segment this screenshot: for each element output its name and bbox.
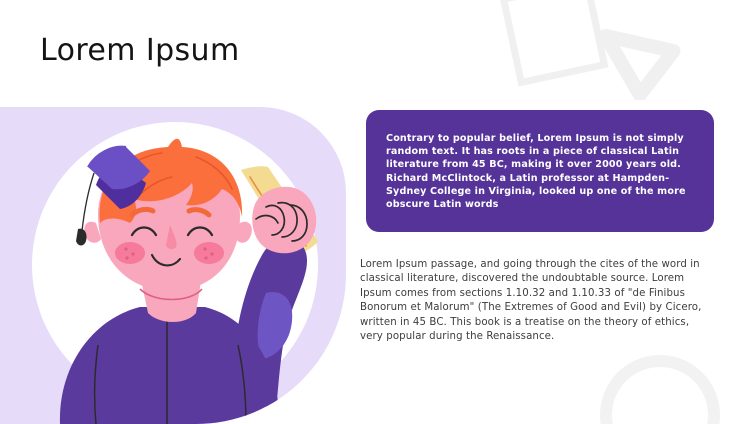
fist-hand [252,187,316,254]
illustration-panel [0,107,346,424]
slide-canvas: Lorem Ipsum [0,0,753,424]
callout-text: Contrary to popular belief, Lorem Ipsum … [386,132,694,211]
blush-left [115,242,145,264]
callout-card: Contrary to popular belief, Lorem Ipsum … [366,110,714,232]
circle-outline-icon [600,355,720,424]
page-title: Lorem Ipsum [40,33,240,68]
tilted-square-outline-icon [499,0,608,87]
body-paragraph: Lorem Ipsum passage, and going through t… [360,258,712,344]
triangle-outline-icon [600,14,690,100]
blush-right [194,242,224,264]
graduate-boy-illustration [0,107,346,424]
